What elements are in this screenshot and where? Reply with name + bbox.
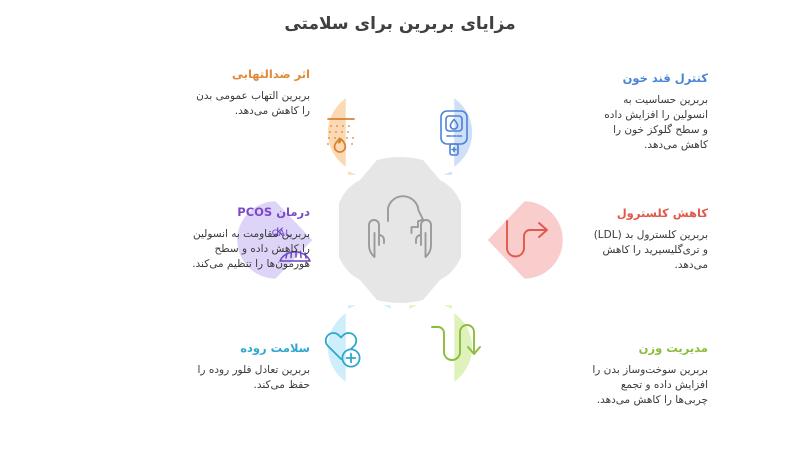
benefit-heading-gut-health: سلامت روده xyxy=(110,340,310,357)
benefit-block-pcos: درمان PCOS بربرین مقاومت به انسولین را ک… xyxy=(110,204,310,272)
benefit-heading-blood-sugar: کنترل قند خون xyxy=(508,70,708,87)
benefit-block-anti-inflammatory: اثر ضدالتهابی بربرین التهاب عمومی بدن را… xyxy=(110,66,310,119)
benefit-heading-anti-inflammatory: اثر ضدالتهابی xyxy=(110,66,310,83)
infographic-canvas: مزایای بربرین برای سلامتی xyxy=(0,0,800,450)
benefit-heading-pcos: درمان PCOS xyxy=(110,204,310,221)
center-hub xyxy=(327,157,473,303)
benefit-body-pcos: بربرین مقاومت به انسولین را کاهش داده و … xyxy=(192,227,310,273)
benefit-body-gut-health: بربرین تعادل فلور روده را حفظ می‌کند. xyxy=(192,363,310,393)
benefit-block-cholesterol: کاهش کلسترول بربرین کلسترول بد (LDL) و ت… xyxy=(508,205,708,273)
glucometer-icon xyxy=(441,111,467,155)
page-title: مزایای بربرین برای سلامتی xyxy=(0,14,800,34)
benefit-heading-weight: مدیریت وزن xyxy=(508,340,708,357)
heart-plus-icon xyxy=(326,333,360,367)
benefit-heading-cholesterol: کاهش کلسترول xyxy=(508,205,708,222)
benefit-block-gut-health: سلامت روده بربرین تعادل فلور روده را حفظ… xyxy=(110,340,310,393)
benefit-block-weight: مدیریت وزن بربرین سوخت‌وساز بدن را افزای… xyxy=(508,340,708,408)
benefit-body-blood-sugar: بربرین حساسیت به انسولین را افزایش داده … xyxy=(598,93,708,154)
s-curve-down-arrow-icon xyxy=(432,325,480,360)
shower-flame-icon xyxy=(327,119,354,152)
benefit-block-blood-sugar: کنترل قند خون بربرین حساسیت به انسولین ر… xyxy=(508,70,708,154)
petal-gut-health[interactable] xyxy=(326,304,392,384)
petal-weight[interactable] xyxy=(408,304,480,384)
benefit-body-weight: بربرین سوخت‌وساز بدن را افزایش داده و تج… xyxy=(590,363,708,409)
benefit-body-cholesterol: بربرین کلسترول بد (LDL) و تری‌گلیسیرید ر… xyxy=(588,228,708,274)
benefit-body-anti-inflammatory: بربرین التهاب عمومی بدن را کاهش می‌دهد. xyxy=(192,89,310,119)
